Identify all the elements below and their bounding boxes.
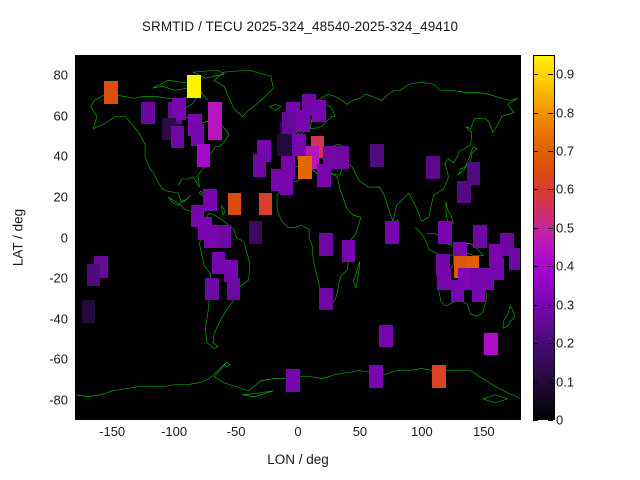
y-tick-label: 0: [61, 230, 68, 245]
y-tick-label: -20: [49, 271, 68, 286]
x-tick-label: -50: [227, 424, 246, 439]
colorbar-tick-mark: [533, 151, 538, 152]
colorbar-tick-label: 0.5: [556, 220, 574, 235]
colorbar-tick-mark: [548, 74, 553, 75]
x-tick-label: 0: [294, 424, 301, 439]
colorbar-tick-mark: [533, 343, 538, 344]
colorbar-tick-mark: [533, 74, 538, 75]
colorbar-tick-mark: [533, 266, 538, 267]
colorbar-tick-mark: [548, 382, 553, 383]
y-tick-label: 20: [54, 189, 68, 204]
x-axis-label: LON / deg: [75, 452, 521, 467]
y-axis-label: LAT / deg: [11, 158, 26, 318]
colorbar-tick-mark: [548, 420, 553, 421]
y-tick-label: -80: [49, 392, 68, 407]
figure-root: SRMTID / TECU 2025-324_48540-2025-324_49…: [0, 0, 640, 480]
colorbar-tick-label: 0.6: [556, 182, 574, 197]
colorbar-tick-label: 0.2: [556, 336, 574, 351]
y-tick-label: 80: [54, 68, 68, 83]
map-plot-area: [75, 55, 521, 420]
x-tick-label: -100: [161, 424, 187, 439]
colorbar-tick-mark: [533, 113, 538, 114]
axis-tick-marks: [76, 56, 520, 419]
colorbar-tick-mark: [548, 343, 553, 344]
x-tick-label: 150: [473, 424, 495, 439]
colorbar-tick-mark: [533, 228, 538, 229]
colorbar-tick-mark: [548, 151, 553, 152]
colorbar-tick-mark: [533, 305, 538, 306]
colorbar-gradient: [533, 55, 555, 420]
colorbar-tick-label: 0.8: [556, 105, 574, 120]
colorbar-tick-label: 0.4: [556, 259, 574, 274]
colorbar-tick-label: 0.9: [556, 67, 574, 82]
colorbar-tick-mark: [548, 189, 553, 190]
y-tick-label: 60: [54, 108, 68, 123]
colorbar-tick-mark: [548, 228, 553, 229]
y-tick-label: -40: [49, 311, 68, 326]
y-tick-label: -60: [49, 352, 68, 367]
colorbar-tick-label: 0.1: [556, 374, 574, 389]
page-title: SRMTID / TECU 2025-324_48540-2025-324_49…: [0, 19, 600, 34]
colorbar-tick-mark: [533, 382, 538, 383]
colorbar-tick-mark: [533, 189, 538, 190]
colorbar-tick-mark: [548, 266, 553, 267]
y-tick-label: 40: [54, 149, 68, 164]
colorbar-tick-label: 0.7: [556, 144, 574, 159]
x-tick-label: -150: [99, 424, 125, 439]
colorbar-tick-mark: [533, 420, 538, 421]
x-tick-label: 50: [353, 424, 367, 439]
colorbar-tick-mark: [548, 113, 553, 114]
colorbar-tick-label: 0: [556, 413, 563, 428]
colorbar-tick-label: 0.3: [556, 297, 574, 312]
colorbar-tick-mark: [548, 305, 553, 306]
x-tick-label: 100: [411, 424, 433, 439]
